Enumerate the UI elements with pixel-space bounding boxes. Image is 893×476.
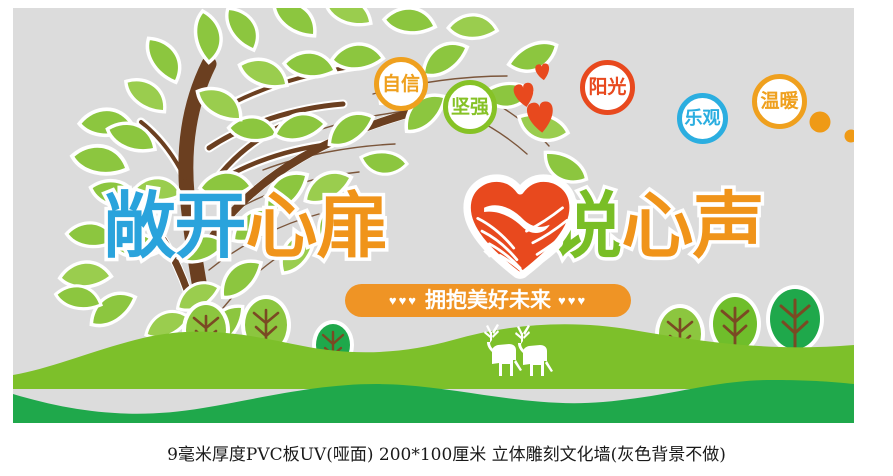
handshake-heart-icon (13, 8, 854, 423)
ribbon-banner: ♥♥♥ 拥抱美好未来 ♥♥♥ (345, 284, 631, 317)
ribbon-hearts-left: ♥♥♥ (389, 294, 418, 307)
ribbon-text: 拥抱美好未来 (425, 290, 551, 311)
ribbon-hearts-right: ♥♥♥ (558, 294, 587, 307)
caption-text: 9毫米厚度PVC板UV(哑面) 200*100厘米 立体雕刻文化墙(灰色背景不做… (0, 440, 893, 465)
poster-root: 自信 坚强 阳光 乐观 温暖 敞开 心扉 诉说 心声 (0, 0, 893, 476)
artboard: 自信 坚强 阳光 乐观 温暖 敞开 心扉 诉说 心声 (13, 8, 854, 423)
